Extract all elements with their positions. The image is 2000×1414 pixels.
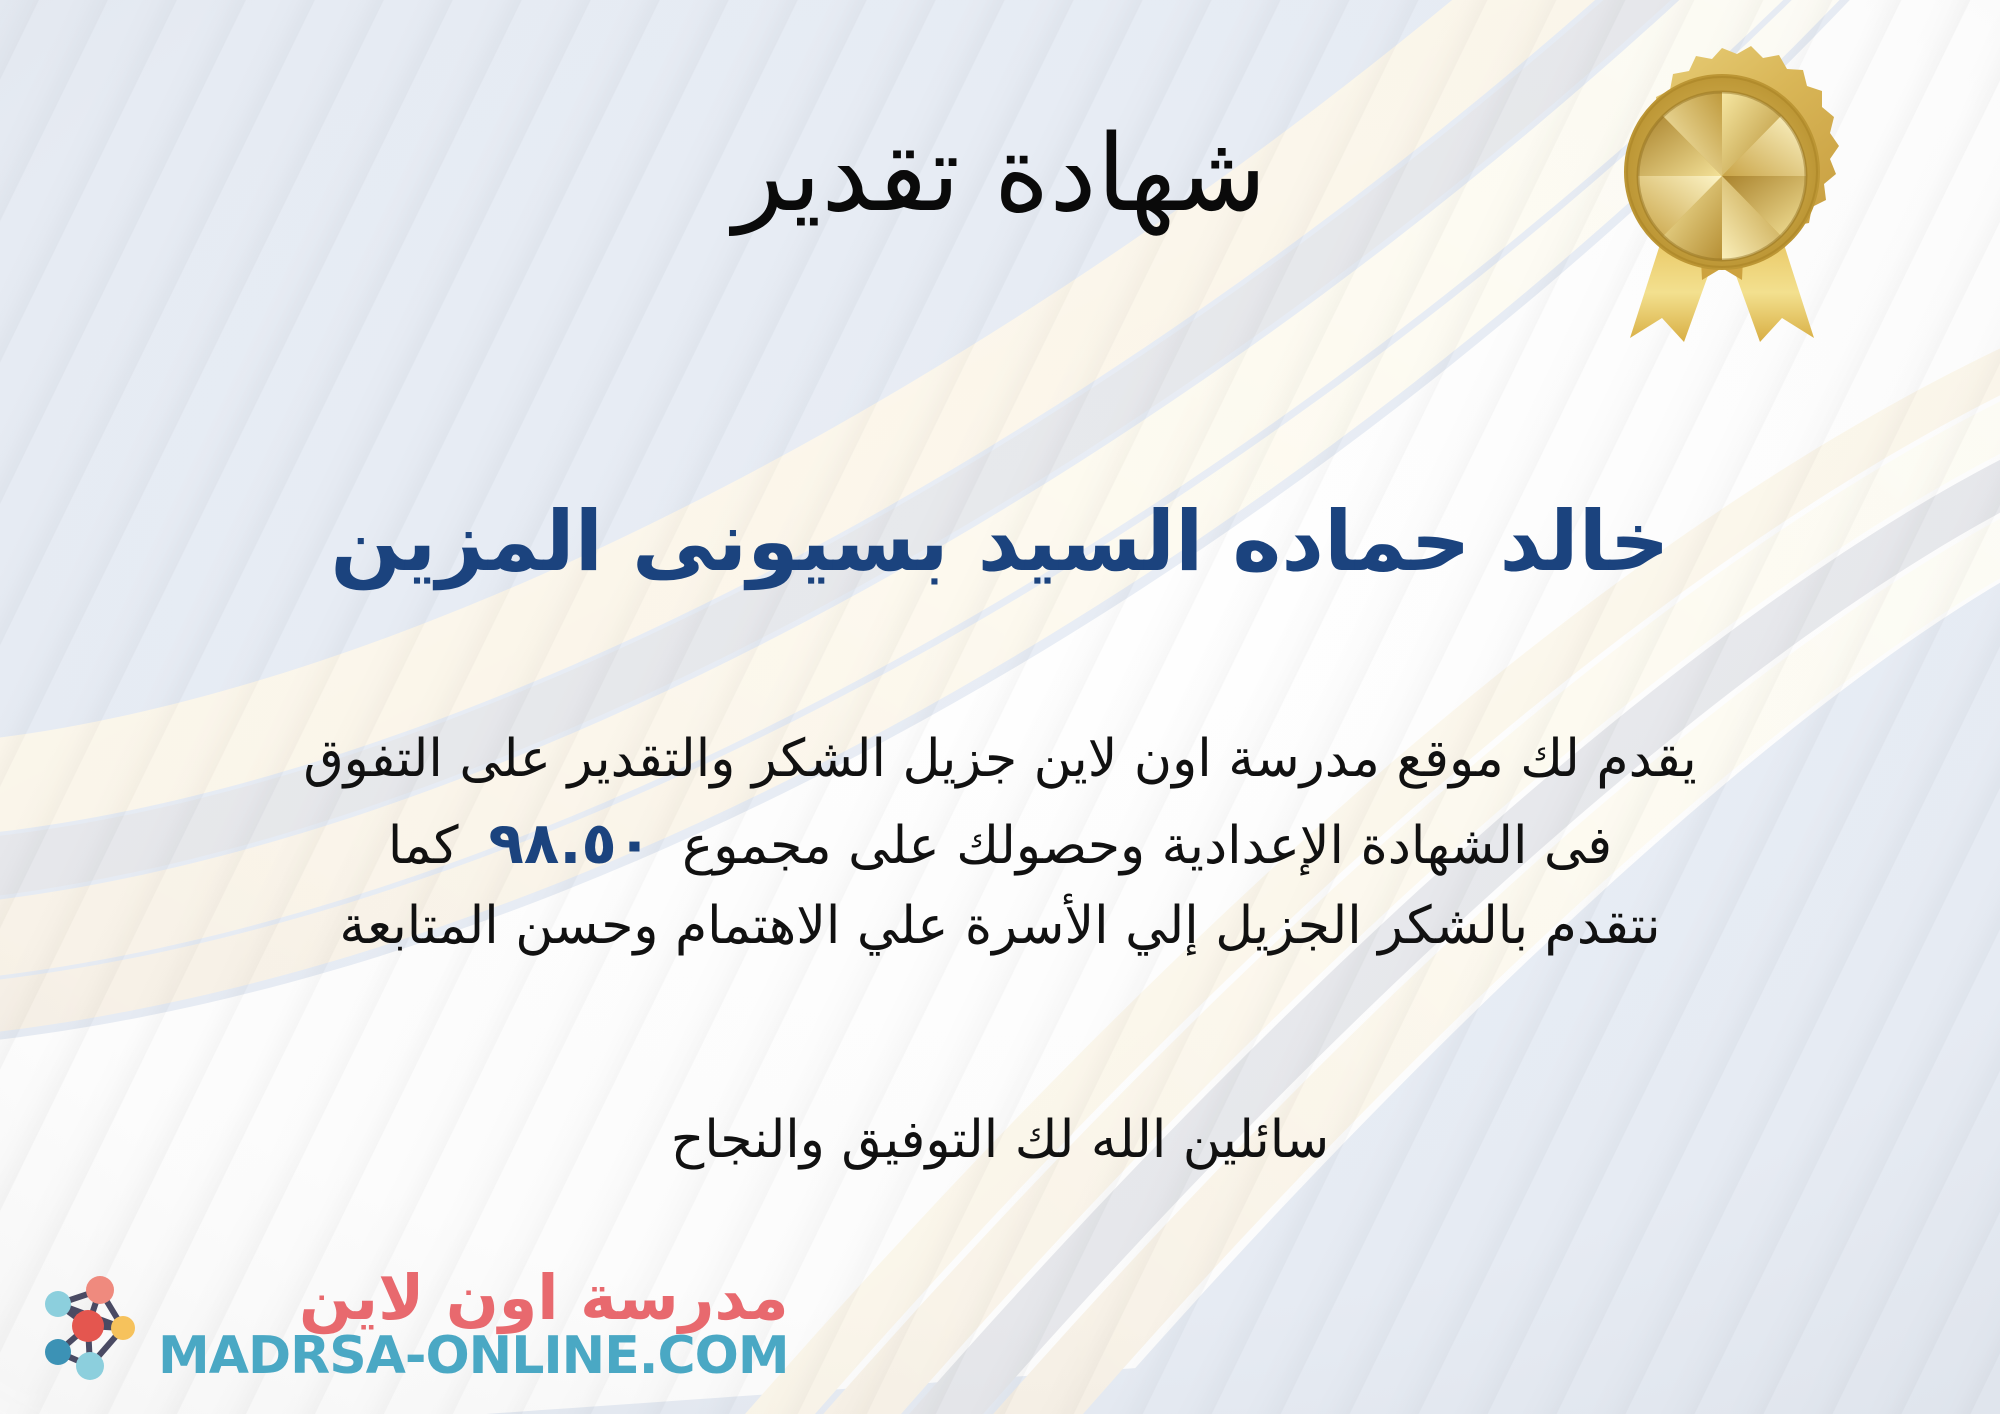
- site-logo[interactable]: مدرسة اون لاين MADRSA-ONLINE.COM: [28, 1264, 789, 1384]
- certificate-canvas: شهادة تقدير خالد حماده السيد بسيونى المز…: [0, 0, 2000, 1414]
- network-nodes-icon: [28, 1264, 148, 1384]
- body-line-2: فى الشهادة الإعدادية وحصولك على مجموع٩٨.…: [90, 799, 1910, 887]
- recipient-name: خالد حماده السيد بسيونى المزين: [0, 492, 2000, 592]
- body-line-2-prefix: فى الشهادة الإعدادية وحصولك على مجموع: [682, 816, 1612, 876]
- certificate-body: يقدم لك موقع مدرسة اون لاين جزيل الشكر و…: [90, 720, 1910, 966]
- logo-website-url: MADRSA-ONLINE.COM: [158, 1330, 789, 1382]
- body-line-1: يقدم لك موقع مدرسة اون لاين جزيل الشكر و…: [90, 720, 1910, 799]
- certificate-title: شهادة تقدير: [0, 113, 2000, 235]
- closing-wish: سائلين الله لك التوفيق والنجاح: [0, 1110, 2000, 1170]
- logo-arabic-name: مدرسة اون لاين: [299, 1266, 789, 1329]
- body-line-2-suffix: كما: [388, 816, 459, 876]
- score-value: ٩٨.٥٠: [459, 809, 683, 877]
- body-line-3: نتقدم بالشكر الجزيل إلي الأسرة علي الاهت…: [90, 887, 1910, 966]
